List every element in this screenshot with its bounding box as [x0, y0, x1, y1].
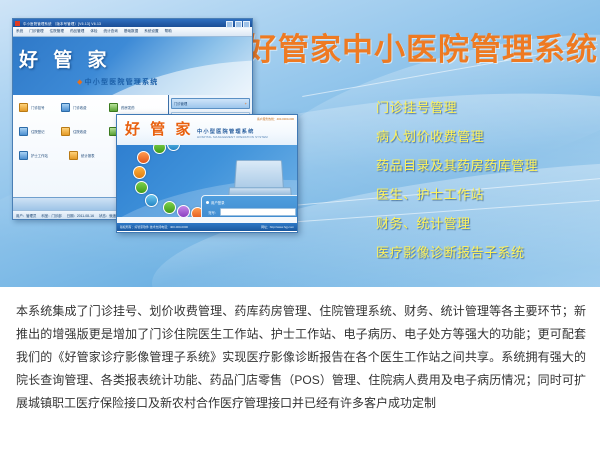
- money-icon: [61, 103, 70, 112]
- shortcut-label: 护士工作站: [31, 153, 48, 158]
- bubble-mail-icon: [133, 166, 146, 179]
- shortcut-label: 住院收费: [73, 129, 87, 134]
- nav-item[interactable]: 门诊管理 +: [171, 98, 250, 109]
- app-logo-icon: [15, 21, 20, 26]
- promo-page: 好管家中小医院管理系统 门诊挂号管理 病人划价收费管理 药品目录及其药房药库管理…: [0, 0, 600, 450]
- menu-item[interactable]: 药品管理: [70, 29, 84, 34]
- shortcut-item[interactable]: 门诊挂号: [19, 103, 45, 112]
- shortcut-label: 住院登记: [31, 129, 45, 134]
- shortcut-label: 门诊收费: [73, 105, 87, 110]
- shortcut-item[interactable]: 住院收费: [61, 127, 87, 136]
- window1-logo: 好 管 家: [19, 45, 112, 72]
- window2-header: 好 管 家 中小型医院管理系统 HOSPITAL MANAGEMENT OPER…: [117, 115, 297, 145]
- bubble-person-icon: [137, 151, 150, 164]
- window2-subtitle-en: HOSPITAL MANAGEMENT OPERATION SYSTEM: [197, 135, 268, 139]
- bubble-pill-icon: [177, 205, 190, 217]
- login-panel: 用户登录 账号： 密码： 确定 取消: [201, 195, 297, 217]
- window2-logo: 好 管 家: [125, 118, 193, 139]
- window2-hotline: 客户服务热线：400-0000-000: [257, 117, 294, 121]
- footer-copyright: 版权所有：好管家软件 技术支持电话：400-000-0000: [120, 225, 188, 229]
- menu-item[interactable]: 帮助: [165, 29, 172, 34]
- shortcut-label: 门诊挂号: [31, 105, 45, 110]
- clipboard-icon: [19, 103, 28, 112]
- feature-list: 门诊挂号管理 病人划价收费管理 药品目录及其药房药库管理 医生、护士工作站 财务…: [376, 97, 596, 271]
- bubble-leaf-icon: [153, 145, 166, 154]
- chart-icon: [69, 151, 78, 160]
- infobar-item: 日期：2011-08-16: [67, 213, 94, 218]
- login-title-label: 用户登录: [211, 200, 225, 205]
- feature-item: 医疗影像诊断报告子系统: [376, 242, 596, 261]
- maximize-icon[interactable]: [235, 21, 242, 28]
- close-icon[interactable]: [243, 21, 250, 28]
- user-label: 账号：: [206, 210, 218, 215]
- bed-icon: [19, 127, 28, 136]
- shortcut-item[interactable]: 住院登记: [19, 127, 45, 136]
- footer-website[interactable]: 网址：http://www.hgj.com: [261, 225, 294, 229]
- login-panel-title: 用户登录: [206, 200, 296, 205]
- login-user-row: 账号：: [206, 208, 296, 216]
- user-input[interactable]: [220, 208, 296, 216]
- feature-item: 医生、护士工作站: [376, 184, 596, 203]
- minimize-icon[interactable]: [226, 21, 233, 28]
- window2-footer: 版权所有：好管家软件 技术支持电话：400-000-0000 网址：http:/…: [117, 223, 297, 231]
- window1-menubar[interactable]: 系统 门诊管理 住院管理 药品管理 体检 统计查询 基础数据 系统设置 帮助: [13, 27, 252, 37]
- shortcut-item[interactable]: 护士工作站: [19, 151, 48, 160]
- infobar-item: 科室：门诊部: [41, 213, 61, 218]
- feature-item: 药品目录及其药房药库管理: [376, 155, 596, 174]
- bubble-medal-icon: [135, 181, 148, 194]
- laptop-illustration-icon: [234, 160, 284, 192]
- shortcut-label: 统计报表: [81, 153, 95, 158]
- menu-item[interactable]: 住院管理: [50, 29, 64, 34]
- invoice-icon: [61, 127, 70, 136]
- pill-icon: [109, 103, 118, 112]
- nurse-icon: [19, 151, 28, 160]
- infobar-item: 状态：就绪: [99, 213, 116, 218]
- description-text: 本系统集成了门诊挂号、划价收费管理、药库药房管理、住院管理系统、财务、统计管理等…: [16, 300, 586, 415]
- menu-item[interactable]: 体检: [90, 29, 97, 34]
- infobar-item: 用户：管理员: [16, 213, 36, 218]
- shortcut-item[interactable]: 药房发药: [109, 103, 135, 112]
- feature-item: 门诊挂号管理: [376, 97, 596, 116]
- window1-titlebar: 中小医院管理系统 〔版本号管理〕[V6.13] V6.13: [13, 19, 252, 27]
- window1-subtitle-text: 中小型医院管理系统: [85, 79, 159, 86]
- bubble-chart-icon: [145, 194, 158, 207]
- shortcut-item[interactable]: 门诊收费: [61, 103, 87, 112]
- nav-item-label: 门诊管理: [174, 101, 188, 106]
- menu-item[interactable]: 系统: [16, 29, 23, 34]
- menu-item[interactable]: 门诊管理: [29, 29, 43, 34]
- window1-subtitle: ◆中小型医院管理系统: [77, 77, 158, 87]
- shortcut-item[interactable]: 统计报表: [69, 151, 95, 160]
- bullet-icon: ◆: [77, 79, 84, 86]
- menu-item[interactable]: 系统设置: [144, 29, 158, 34]
- window2-subtitle-cn: 中小型医院管理系统: [197, 128, 255, 135]
- menu-item[interactable]: 统计查询: [104, 29, 118, 34]
- window1-title: 中小医院管理系统 〔版本号管理〕[V6.13] V6.13: [23, 21, 101, 26]
- bubble-cross-icon: [167, 145, 180, 151]
- bubble-doc-icon: [163, 201, 176, 214]
- page-title: 好管家中小医院管理系统: [246, 24, 598, 69]
- window1-caption-buttons[interactable]: [226, 21, 250, 28]
- feature-item: 病人划价收费管理: [376, 126, 596, 145]
- shortcut-label: 药房发药: [121, 105, 135, 110]
- expand-icon[interactable]: +: [245, 101, 247, 106]
- app-screenshot-login-window: 好 管 家 中小型医院管理系统 HOSPITAL MANAGEMENT OPER…: [116, 114, 298, 233]
- window2-main: 用户登录 账号： 密码： 确定 取消: [117, 145, 297, 217]
- menu-item[interactable]: 基础数据: [124, 29, 138, 34]
- radio-icon: [206, 201, 209, 204]
- window1-hero-banner: 好 管 家 ◆中小型医院管理系统: [13, 37, 252, 95]
- feature-item: 财务、统计管理: [376, 213, 596, 232]
